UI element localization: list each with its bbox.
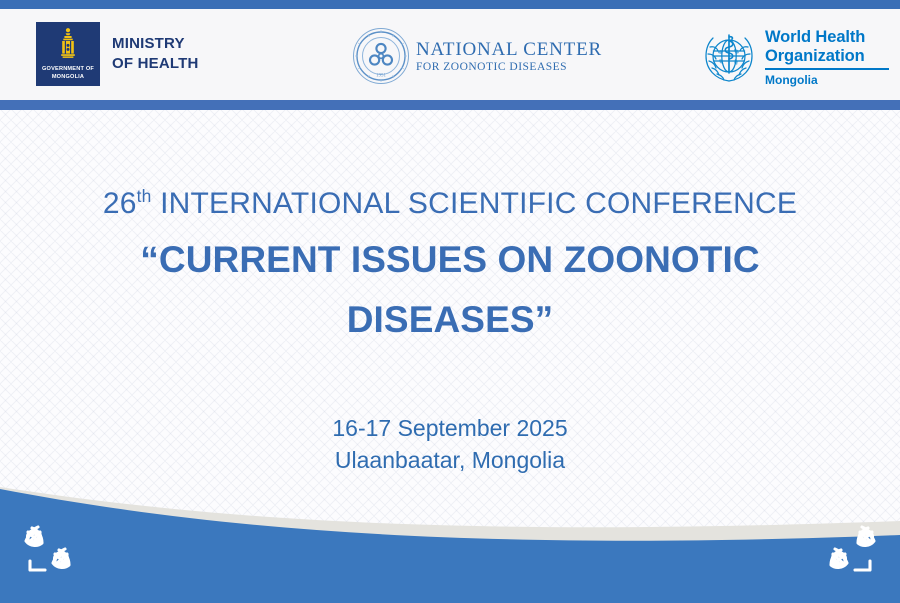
- who-label-line2: Organization: [765, 47, 889, 66]
- ministry-label-line2: OF HEALTH: [112, 54, 199, 74]
- who-mongolia-logo: World Health Organization Mongolia: [700, 28, 889, 87]
- title-block: 26th INTERNATIONAL SCIENTIFIC CONFERENCE…: [0, 175, 900, 345]
- conference-heading: 26th INTERNATIONAL SCIENTIFIC CONFERENCE: [0, 175, 900, 225]
- who-country-label: Mongolia: [765, 73, 889, 87]
- conference-number: 26: [103, 187, 137, 220]
- seal-text-line1: GOVERNMENT OF: [36, 66, 100, 74]
- theme-line-1: “CURRENT ISSUES ON ZOONOTIC: [0, 235, 900, 285]
- nczd-label-line2: FOR ZOONOTIC DISEASES: [416, 60, 602, 74]
- seal-year-text: 1951: [376, 74, 387, 79]
- seal-text-line2: MONGOLIA: [36, 74, 100, 82]
- top-accent-band: [0, 0, 900, 9]
- zoonotic-seal-icon: 1951: [352, 27, 410, 85]
- logo-header-strip: GOVERNMENT OF MONGOLIA MINISTRY OF HEALT…: [0, 9, 900, 100]
- ministry-of-health-logo: GOVERNMENT OF MONGOLIA MINISTRY OF HEALT…: [36, 22, 199, 86]
- who-label-line1: World Health: [765, 28, 889, 47]
- seal-government-text: GOVERNMENT OF MONGOLIA: [36, 66, 100, 81]
- who-divider-rule: [765, 68, 889, 70]
- bottom-wave-decoration: [0, 463, 900, 603]
- national-center-zoonotic-diseases-logo: 1951 NATIONAL CENTER FOR ZOONOTIC DISEAS…: [352, 27, 602, 85]
- conference-heading-text: INTERNATIONAL SCIENTIFIC CONFERENCE: [152, 187, 798, 220]
- nczd-label-line1: NATIONAL CENTER: [416, 39, 602, 60]
- theme-line-2: DISEASES”: [0, 295, 900, 345]
- who-emblem-icon: [700, 29, 758, 87]
- mongolian-ulzii-knot-icon: [816, 519, 882, 579]
- nczd-label: NATIONAL CENTER FOR ZOONOTIC DISEASES: [416, 39, 602, 74]
- conference-ordinal-suffix: th: [137, 186, 152, 206]
- conference-title-slide: GOVERNMENT OF MONGOLIA MINISTRY OF HEALT…: [0, 0, 900, 603]
- ministry-label-line1: MINISTRY: [112, 34, 199, 54]
- event-dates: 16-17 September 2025: [0, 412, 900, 444]
- government-of-mongolia-seal: GOVERNMENT OF MONGOLIA: [36, 22, 100, 86]
- ministry-of-health-label: MINISTRY OF HEALTH: [112, 34, 199, 74]
- who-label: World Health Organization Mongolia: [765, 28, 889, 87]
- header-underline-band: [0, 100, 900, 110]
- mongolian-ulzii-knot-icon: [18, 519, 84, 579]
- soyombo-emblem-icon: [36, 26, 100, 66]
